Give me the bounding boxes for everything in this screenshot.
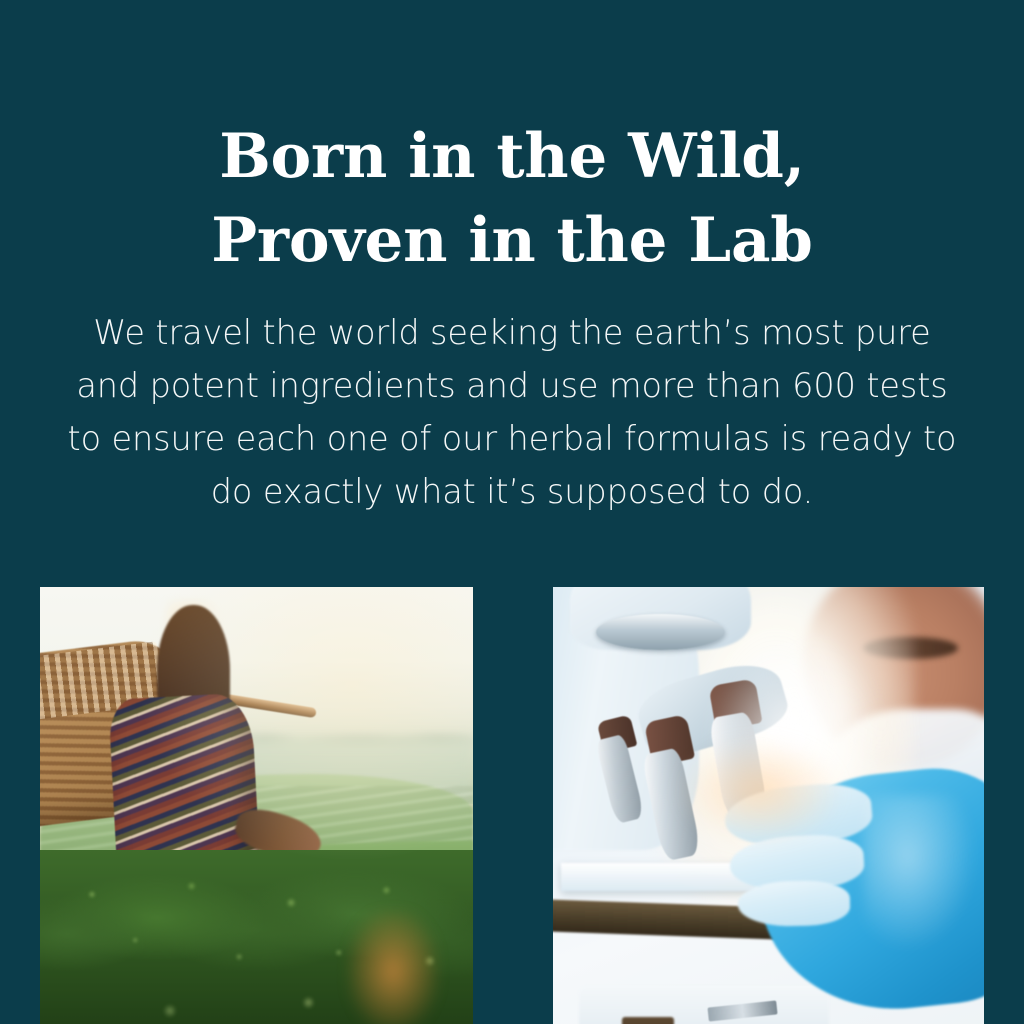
glove-finger-3 xyxy=(738,880,851,927)
microscope-base xyxy=(579,986,829,1024)
tea-harvester-photo xyxy=(40,587,473,1024)
warm-bokeh xyxy=(348,911,438,1024)
brand-promo-graphic: Born in the Wild, Proven in the Lab We t… xyxy=(0,0,1024,1024)
body-paragraph: We travel the world seeking the earth’s … xyxy=(62,306,962,518)
glove-sheen xyxy=(863,795,975,949)
microscope-foot xyxy=(622,1017,674,1024)
headline-line-1: Born in the Wild, xyxy=(0,115,1024,199)
page-title: Born in the Wild, Proven in the Lab xyxy=(0,115,1024,283)
text-panel: Born in the Wild, Proven in the Lab We t… xyxy=(0,0,1024,571)
warm-lens-flare xyxy=(682,741,837,841)
lab-microscope-photo xyxy=(553,587,984,1024)
headline-line-2: Proven in the Lab xyxy=(0,199,1024,283)
photo-band xyxy=(0,571,1024,1024)
